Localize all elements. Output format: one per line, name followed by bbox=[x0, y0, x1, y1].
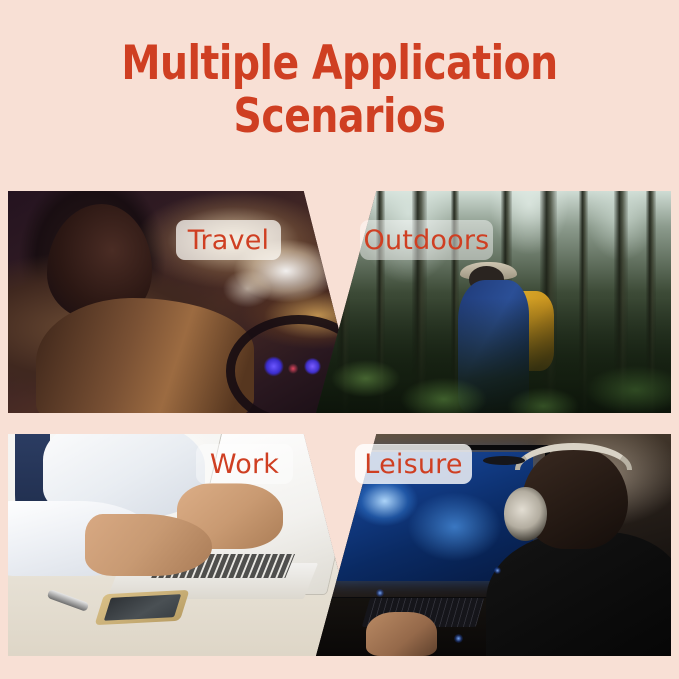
led-glow-shape bbox=[494, 567, 501, 574]
scenario-grid bbox=[0, 0, 679, 679]
typing-hand-shape bbox=[85, 514, 212, 576]
pen-shape bbox=[46, 589, 89, 612]
headset-earcup-shape bbox=[504, 487, 547, 540]
scenario-label-outdoors: Outdoors bbox=[360, 220, 493, 260]
scenario-label-travel: Travel bbox=[176, 220, 281, 260]
application-scenarios-poster: Multiple Application Scenarios bbox=[0, 0, 679, 679]
forest-undergrowth-shape bbox=[316, 298, 671, 413]
work-photo bbox=[8, 434, 360, 656]
driver-arm-shape bbox=[36, 298, 254, 413]
scenario-label-leisure: Leisure bbox=[355, 444, 472, 484]
scenario-label-work: Work bbox=[196, 444, 293, 484]
scenario-panel-work[interactable] bbox=[8, 434, 360, 656]
gamer-hand-shape bbox=[366, 612, 437, 656]
smartphone-shape bbox=[94, 589, 190, 624]
gamer-torso-shape bbox=[486, 532, 671, 656]
